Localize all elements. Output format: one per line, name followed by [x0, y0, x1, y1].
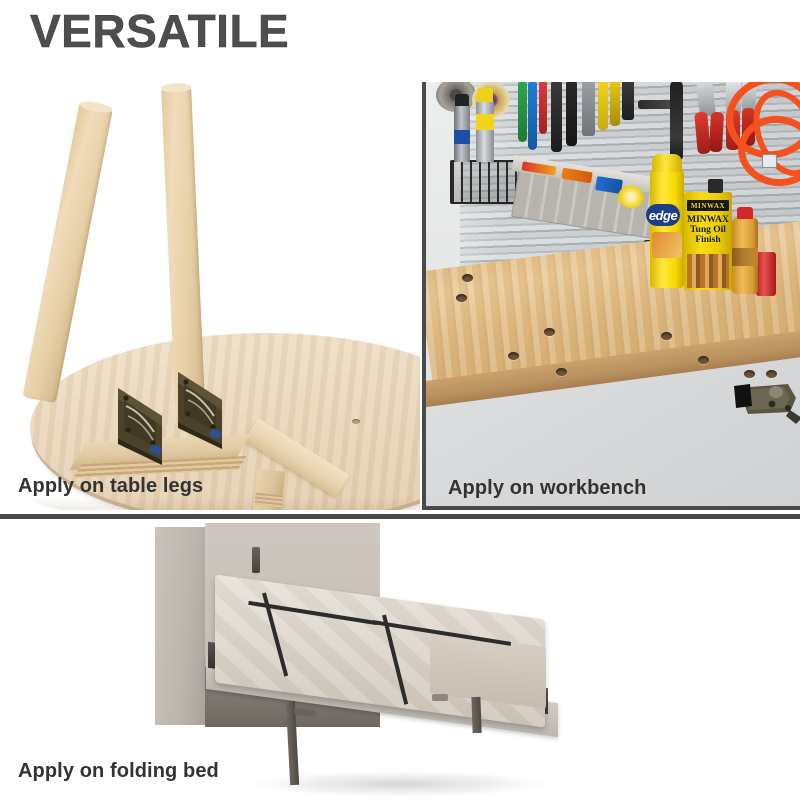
chisel-icon [622, 82, 634, 120]
panel-table-legs [0, 78, 420, 510]
tung-oil-label: MINWAX Tung Oil Finish [687, 216, 729, 246]
bench-dog-hole-4 [556, 368, 567, 376]
table-leg-left [22, 102, 113, 403]
screwdriver-yellow-2-icon [610, 82, 620, 126]
tung-oil-can: MINWAX MINWAX Tung Oil Finish [684, 192, 732, 290]
spray-can-cap-black [455, 94, 469, 106]
infographic-page: VERSATILE [0, 0, 800, 800]
tung-oil-cap [708, 179, 723, 193]
shave-gel-art [652, 232, 682, 258]
wrench-green-icon [518, 82, 527, 142]
bench-dog-hole-3 [508, 352, 519, 360]
wood-glue-red-cap [737, 207, 753, 219]
wood-glue-label-band [732, 248, 758, 266]
tung-oil-brand: MINWAX [691, 202, 725, 210]
spray-can-yellow-band [476, 114, 494, 130]
table-leg-folded-flat [258, 418, 370, 510]
wall-cabinet-side-panel [155, 527, 205, 725]
caption-folding-bed: Apply on folding bed [18, 760, 219, 783]
caption-table-legs: Apply on table legs [18, 475, 203, 498]
bed-support-leg-rear [471, 697, 481, 733]
bed-platform-badge [432, 694, 448, 701]
tool-holder-bar-icon [638, 100, 674, 109]
screwdriver-black-icon [551, 82, 562, 152]
bed-floor-shadow [250, 771, 550, 797]
wrench-blue-icon [528, 82, 537, 150]
bench-dog-hole-5 [544, 328, 555, 336]
spray-can-cap-yellow [477, 88, 493, 102]
snips-icon [582, 82, 595, 136]
spray-can-grey [476, 100, 494, 162]
shave-gel-label: edge [649, 208, 677, 223]
panel-workbench: edge MINWAX MINWAX Tung Oil Finish [422, 82, 800, 510]
screwdriver-yellow-icon [598, 82, 608, 130]
bench-dog-hole-6 [661, 332, 672, 340]
bench-dog-hole-8 [744, 370, 755, 378]
bench-dog-hole-2 [462, 274, 473, 282]
table-leg-right-cap [161, 83, 191, 93]
folding-bracket-right [172, 370, 234, 450]
table-leg-left-cap [78, 99, 113, 114]
bench-dog-hole-9 [766, 370, 777, 378]
folding-bracket-left [112, 386, 174, 466]
bench-dog-hole-7 [698, 356, 709, 364]
workbench-folding-bracket [732, 378, 800, 433]
spray-can-silver [454, 104, 470, 162]
panel-folding-bed [0, 514, 800, 800]
bench-dog-hole-1 [456, 294, 467, 302]
pliers-red-handle-2-icon [709, 112, 724, 153]
wrench-red-icon [539, 82, 547, 134]
tung-oil-wood-art [687, 254, 729, 288]
wood-glue-bottle [732, 218, 758, 294]
shave-gel-cap [652, 154, 682, 172]
bed-pivot-hardware [252, 547, 260, 573]
pry-bar-icon [566, 82, 577, 146]
spray-can-basket [450, 160, 520, 204]
red-product-box [756, 252, 776, 296]
page-title: VERSATILE [30, 8, 289, 54]
spray-can-silver-band [454, 130, 470, 144]
rubber-mallet-handle-icon [670, 82, 683, 162]
shave-gel-can: edge [650, 170, 684, 288]
extension-cord-plug [762, 154, 777, 168]
caption-workbench: Apply on workbench [448, 477, 646, 500]
